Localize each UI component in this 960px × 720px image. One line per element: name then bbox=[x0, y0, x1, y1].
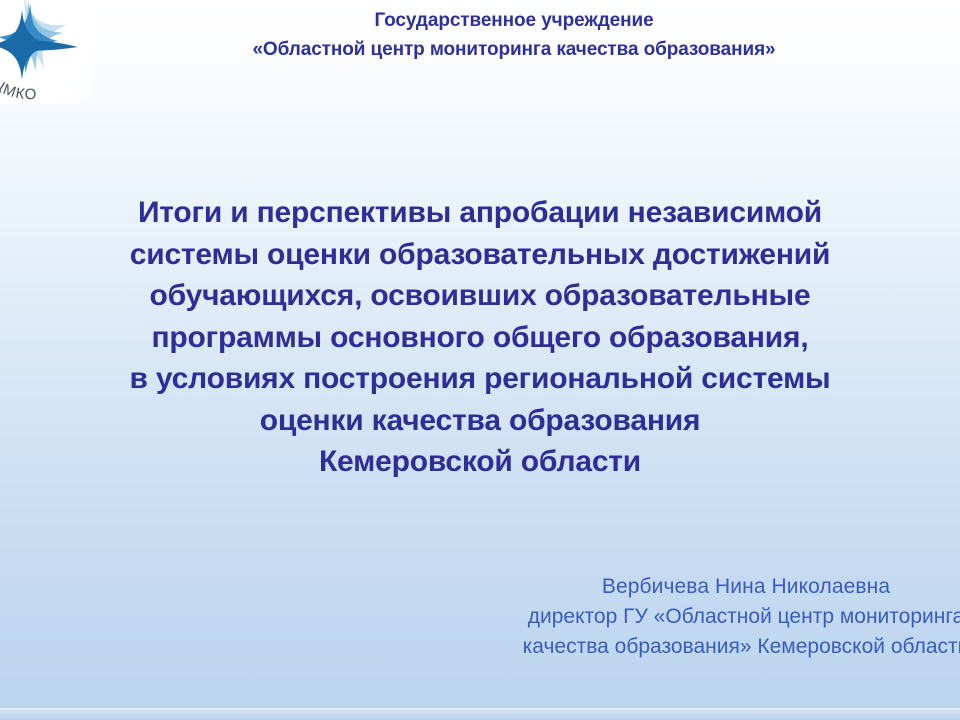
author-position-line1: директор ГУ «Областной центр мониторинга bbox=[466, 602, 960, 632]
slide-title: Итоги и перспективы апробации независимо… bbox=[0, 192, 960, 483]
author-attribution: Вербичева Нина Николаевна директор ГУ «О… bbox=[466, 572, 960, 662]
author-position-line2: качества образования» Кемеровской област… bbox=[466, 632, 960, 662]
presentation-slide: ОЦМКО Государственное учреждение «Област… bbox=[0, 0, 960, 720]
svg-text:ОЦМКО: ОЦМКО bbox=[0, 68, 38, 103]
institution-header: Государственное учреждение «Областной це… bbox=[96, 6, 932, 64]
title-line-5: в условиях построения региональной систе… bbox=[0, 358, 960, 400]
title-line-3: обучающихся, освоивших образовательные bbox=[0, 275, 960, 317]
institution-header-line2: «Областной центр мониторинга качества об… bbox=[96, 35, 932, 64]
author-name: Вербичева Нина Николаевна bbox=[466, 572, 960, 602]
title-line-1: Итоги и перспективы апробации независимо… bbox=[0, 192, 960, 234]
title-line-4: программы основного общего образования, bbox=[0, 317, 960, 359]
title-line-7: Кемеровской области bbox=[0, 441, 960, 483]
institution-header-line1: Государственное учреждение bbox=[96, 6, 932, 35]
bottom-highlight-strip bbox=[0, 709, 960, 720]
ocmko-logo-icon: ОЦМКО bbox=[0, 0, 102, 112]
title-line-2: системы оценки образовательных достижени… bbox=[0, 234, 960, 276]
logo-acronym-text: ОЦМКО bbox=[0, 68, 38, 103]
title-line-6: оценки качества образования bbox=[0, 400, 960, 442]
